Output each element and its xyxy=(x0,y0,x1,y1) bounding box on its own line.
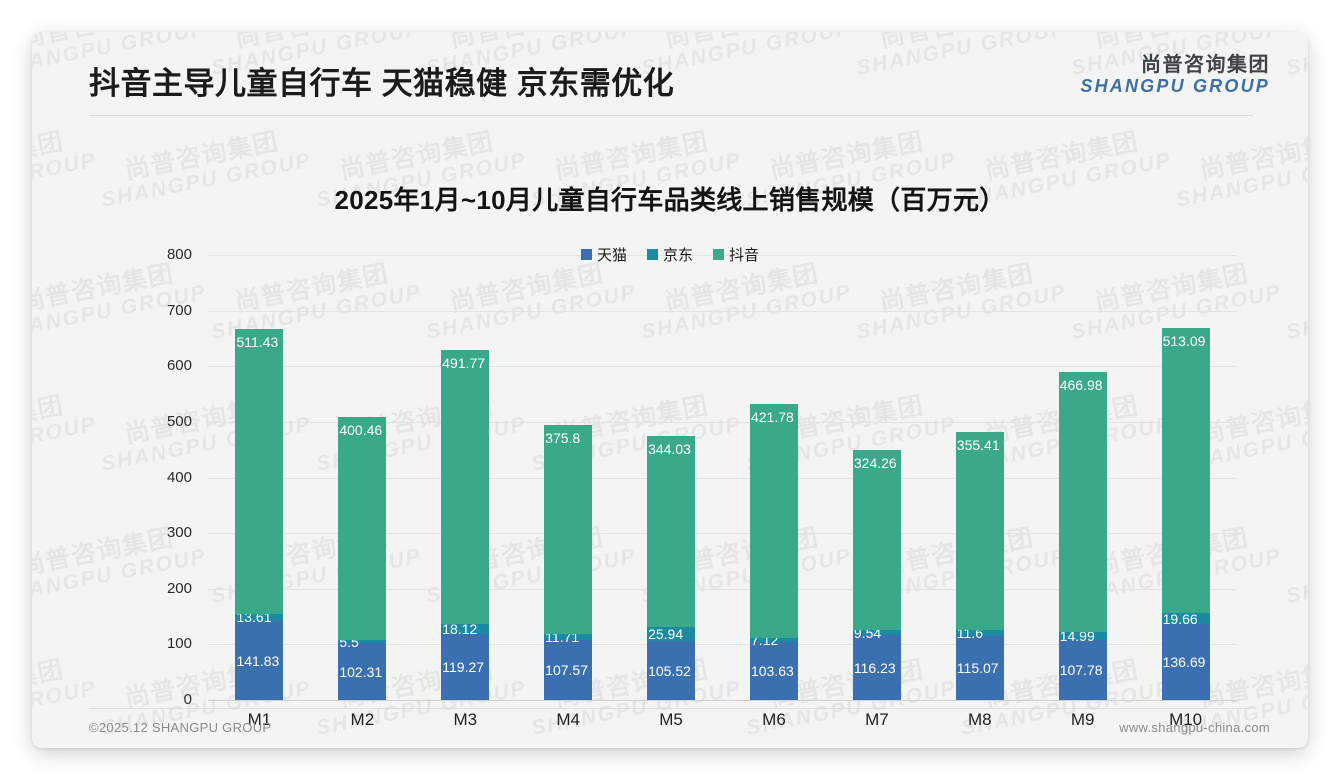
footer-copyright: ©2025.12 SHANGPU GROUP xyxy=(89,720,271,735)
bar-segment-天猫[interactable]: 107.57 xyxy=(544,640,592,700)
bar-stack[interactable]: 116.239.54324.26 xyxy=(853,450,901,700)
bar-segment-京东[interactable]: 7.12 xyxy=(750,638,798,642)
bar-group-M5: 105.5225.94344.03M5 xyxy=(620,255,723,700)
legend-label: 京东 xyxy=(663,244,693,265)
brand-logo: 尚普咨询集团 SHANGPU GROUP xyxy=(1080,54,1270,97)
slide-card: 尚普咨询集团SHANGPU GROUP尚普咨询集团SHANGPU GROUP尚普… xyxy=(32,32,1308,748)
y-axis-tick-label: 0 xyxy=(132,691,192,708)
bar-segment-抖音[interactable]: 491.77 xyxy=(441,350,489,624)
bar-value-label: 115.07 xyxy=(957,661,999,675)
footer-divider xyxy=(89,708,1253,709)
y-axis-tick-label: 100 xyxy=(132,635,192,652)
bar-segment-抖音[interactable]: 511.43 xyxy=(235,329,283,613)
bar-stack[interactable]: 119.2718.12491.77 xyxy=(441,350,489,700)
bar-value-label: 18.12 xyxy=(442,622,477,636)
bar-group-M2: 102.315.5400.46M2 xyxy=(311,255,414,700)
bar-segment-京东[interactable]: 25.94 xyxy=(647,627,695,641)
bar-value-label: 466.98 xyxy=(1060,378,1103,392)
footer-website: www.shangpu-china.com xyxy=(1119,720,1270,735)
bar-stack[interactable]: 136.6919.66513.09 xyxy=(1162,328,1210,700)
bar-value-label: 344.03 xyxy=(648,442,691,456)
y-axis-tick-label: 200 xyxy=(132,580,192,597)
bar-group-M7: 116.239.54324.26M7 xyxy=(825,255,928,700)
bar-group-M6: 103.637.12421.78M6 xyxy=(723,255,826,700)
bar-stack[interactable]: 102.315.5400.46 xyxy=(338,417,386,700)
bar-segment-抖音[interactable]: 355.41 xyxy=(956,432,1004,630)
bar-value-label: 19.66 xyxy=(1163,612,1198,626)
y-axis-tick-label: 600 xyxy=(132,357,192,374)
bar-value-label: 355.41 xyxy=(957,438,1000,452)
bar-value-label: 107.57 xyxy=(545,663,588,677)
bar-stack[interactable]: 107.5711.71375.8 xyxy=(544,425,592,700)
chart-title: 2025年1月~10月儿童自行车品类线上销售规模（百万元） xyxy=(32,180,1308,217)
bar-value-label: 375.8 xyxy=(545,431,580,445)
x-axis-tick-label: M3 xyxy=(414,710,517,730)
bar-value-label: 107.78 xyxy=(1060,663,1103,677)
legend-label: 天猫 xyxy=(597,244,627,265)
legend-item-京东[interactable]: 京东 xyxy=(647,244,693,265)
x-axis-tick-label: M8 xyxy=(928,710,1031,730)
bar-value-label: 136.69 xyxy=(1163,655,1206,669)
bar-group-M1: 141.8313.61511.43M1 xyxy=(208,255,311,700)
x-axis-tick-label: M4 xyxy=(517,710,620,730)
bar-segment-天猫[interactable]: 105.52 xyxy=(647,641,695,700)
bar-value-label: 421.78 xyxy=(751,410,794,424)
bar-segment-抖音[interactable]: 344.03 xyxy=(647,436,695,627)
bar-segment-抖音[interactable]: 513.09 xyxy=(1162,328,1210,613)
header-divider xyxy=(89,115,1253,116)
bar-value-label: 102.31 xyxy=(339,665,382,679)
legend-swatch-icon xyxy=(713,249,724,260)
y-axis-tick-label: 700 xyxy=(132,302,192,319)
bar-segment-抖音[interactable]: 375.8 xyxy=(544,425,592,634)
bar-group-M10: 136.6919.66513.09M10 xyxy=(1134,255,1237,700)
bar-value-label: 400.46 xyxy=(339,423,382,437)
chart-bars: 141.8313.61511.43M1102.315.5400.46M2119.… xyxy=(208,255,1237,700)
bar-stack[interactable]: 103.637.12421.78 xyxy=(750,404,798,700)
bar-segment-京东[interactable]: 19.66 xyxy=(1162,613,1210,624)
bar-value-label: 324.26 xyxy=(854,456,897,470)
bar-stack[interactable]: 107.7814.99466.98 xyxy=(1059,372,1107,700)
bar-value-label: 105.52 xyxy=(648,664,691,678)
bar-value-label: 511.43 xyxy=(236,335,278,349)
bar-segment-天猫[interactable]: 119.27 xyxy=(441,634,489,700)
header: 抖音主导儿童自行车 天猫稳健 京东需优化 尚普咨询集团 SHANGPU GROU… xyxy=(32,32,1308,116)
bar-stack[interactable]: 115.0711.6355.41 xyxy=(956,432,1004,700)
bar-value-label: 25.94 xyxy=(648,627,683,641)
bar-group-M8: 115.0711.6355.41M8 xyxy=(928,255,1031,700)
bar-segment-京东[interactable]: 13.61 xyxy=(235,614,283,622)
bar-stack[interactable]: 105.5225.94344.03 xyxy=(647,436,695,700)
bar-segment-天猫[interactable]: 141.83 xyxy=(235,621,283,700)
legend-swatch-icon xyxy=(581,249,592,260)
legend-swatch-icon xyxy=(647,249,658,260)
x-axis-line xyxy=(208,700,1237,701)
bar-segment-天猫[interactable]: 107.78 xyxy=(1059,640,1107,700)
y-axis-tick-label: 500 xyxy=(132,413,192,430)
bar-segment-抖音[interactable]: 466.98 xyxy=(1059,372,1107,632)
bar-segment-京东[interactable]: 9.54 xyxy=(853,630,901,635)
bar-segment-天猫[interactable]: 103.63 xyxy=(750,642,798,700)
logo-chinese-text: 尚普咨询集团 xyxy=(1080,54,1270,76)
x-axis-tick-label: M7 xyxy=(825,710,928,730)
page-title: 抖音主导儿童自行车 天猫稳健 京东需优化 xyxy=(89,58,674,103)
bar-segment-天猫[interactable]: 116.23 xyxy=(853,635,901,700)
legend-label: 抖音 xyxy=(729,244,759,265)
bar-group-M4: 107.5711.71375.8M4 xyxy=(517,255,620,700)
bar-value-label: 513.09 xyxy=(1163,334,1206,348)
x-axis-tick-label: M5 xyxy=(620,710,723,730)
bar-segment-京东[interactable]: 5.5 xyxy=(338,640,386,643)
x-axis-tick-label: M6 xyxy=(723,710,826,730)
bar-segment-抖音[interactable]: 421.78 xyxy=(750,404,798,639)
bar-stack[interactable]: 141.8313.61511.43 xyxy=(235,329,283,700)
bar-segment-天猫[interactable]: 115.07 xyxy=(956,636,1004,700)
bar-value-label: 141.83 xyxy=(236,654,279,668)
chart-legend: 天猫京东抖音 xyxy=(32,244,1308,265)
x-axis-tick-label: M2 xyxy=(311,710,414,730)
bar-value-label: 103.63 xyxy=(751,664,794,678)
legend-item-抖音[interactable]: 抖音 xyxy=(713,244,759,265)
bar-value-label: 116.23 xyxy=(854,661,896,675)
bar-group-M9: 107.7814.99466.98M9 xyxy=(1031,255,1134,700)
y-axis-tick-label: 400 xyxy=(132,469,192,486)
y-axis-tick-label: 300 xyxy=(132,524,192,541)
bar-segment-抖音[interactable]: 324.26 xyxy=(853,450,901,630)
bar-segment-京东[interactable]: 11.6 xyxy=(956,630,1004,636)
bar-segment-天猫[interactable]: 136.69 xyxy=(1162,624,1210,700)
chart-plot-area: 8007006005004003002001000 141.8313.61511… xyxy=(32,32,1308,748)
bar-group-M3: 119.2718.12491.77M3 xyxy=(414,255,517,700)
bar-value-label: 119.27 xyxy=(442,660,484,674)
bar-segment-抖音[interactable]: 400.46 xyxy=(338,417,386,640)
bar-segment-天猫[interactable]: 102.31 xyxy=(338,643,386,700)
bar-segment-京东[interactable]: 11.71 xyxy=(544,634,592,641)
logo-english-text: SHANGPU GROUP xyxy=(1080,76,1270,96)
bar-segment-京东[interactable]: 14.99 xyxy=(1059,632,1107,640)
bar-value-label: 491.77 xyxy=(442,356,485,370)
bar-segment-京东[interactable]: 18.12 xyxy=(441,624,489,634)
legend-item-天猫[interactable]: 天猫 xyxy=(581,244,627,265)
